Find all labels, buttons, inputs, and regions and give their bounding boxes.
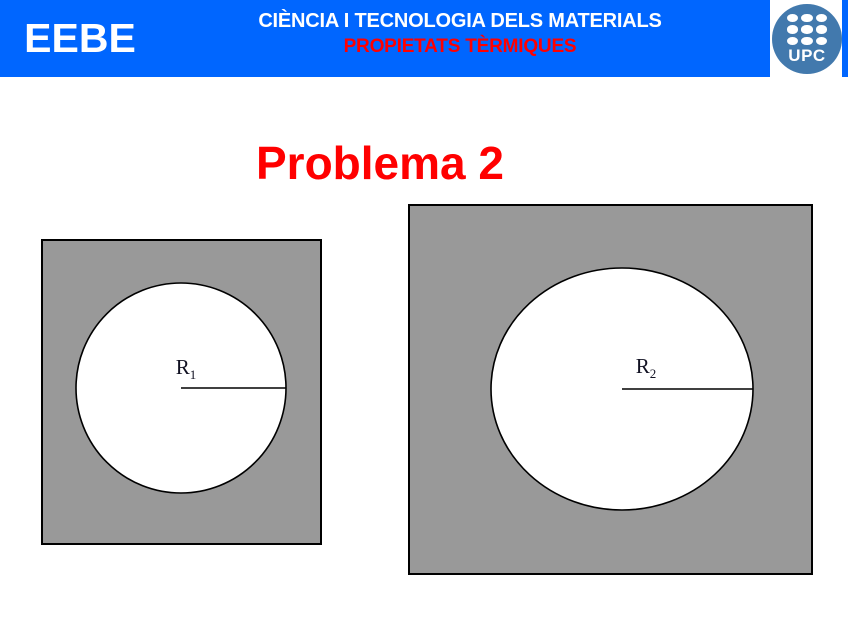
upc-dot xyxy=(787,14,798,22)
radius-label-r2-letter: R xyxy=(636,354,650,378)
figure-plate-with-hole-r1: R1 xyxy=(41,239,322,545)
upc-logo: UPC xyxy=(772,4,842,74)
header-title-block: CIÈNCIA I TECNOLOGIA DELS MATERIALS PROP… xyxy=(160,8,760,60)
upc-dot xyxy=(801,37,812,45)
brand-eebe-logo: EEBE xyxy=(10,14,150,62)
course-title: CIÈNCIA I TECNOLOGIA DELS MATERIALS xyxy=(160,8,760,34)
upc-dot-grid-icon xyxy=(787,14,827,45)
upc-dot xyxy=(816,37,827,45)
upc-dot xyxy=(816,25,827,33)
upc-dot xyxy=(787,25,798,33)
upc-dot xyxy=(816,14,827,22)
radius-label-r2-subscript: 2 xyxy=(650,366,657,381)
header-right-edge-strip xyxy=(842,0,848,77)
upc-dot xyxy=(801,25,812,33)
figure-plate-with-hole-r2: R2 xyxy=(408,204,813,575)
radius-label-r1-letter: R xyxy=(176,355,190,379)
page-title: Problema 2 xyxy=(0,136,760,190)
upc-logo-label: UPC xyxy=(772,46,842,66)
course-subtitle: PROPIETATS TÈRMIQUES xyxy=(160,34,760,60)
upc-dot xyxy=(801,14,812,22)
radius-label-r1-subscript: 1 xyxy=(190,367,197,382)
upc-dot xyxy=(787,37,798,45)
